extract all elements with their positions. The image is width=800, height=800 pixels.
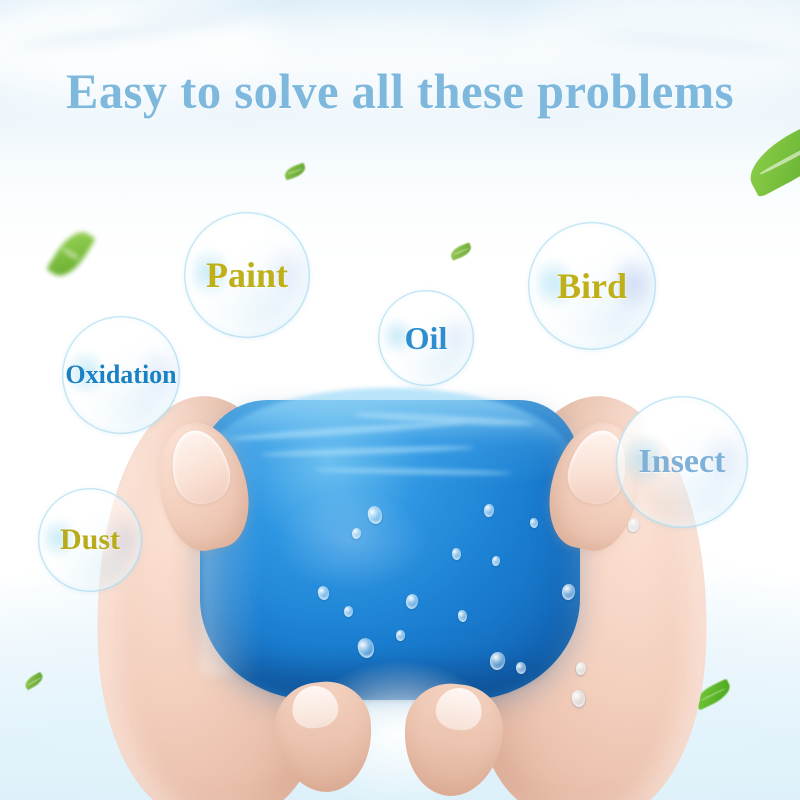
bubble-tint-right — [443, 307, 472, 365]
bubble-gloss — [554, 239, 592, 265]
bubble-label: Insect — [639, 443, 726, 481]
bubble-bird[interactable]: Bird — [528, 222, 656, 350]
gel-top-ridge — [208, 388, 573, 490]
bubble-insect[interactable]: Insect — [616, 396, 748, 528]
bubble-label: Paint — [206, 254, 288, 296]
bubble-gloss — [59, 502, 90, 523]
gel-center-shine — [276, 490, 428, 592]
blue-cleaning-gel-blob — [200, 400, 580, 700]
page-title: Easy to solve all these problems — [12, 62, 788, 120]
product-image-canvas: Easy to solve all these problems PaintBi… — [0, 0, 800, 800]
leaf-vein — [453, 248, 469, 255]
leaf-vein — [62, 247, 81, 261]
bubble-label: Oxidation — [65, 360, 176, 390]
bubble-oil[interactable]: Oil — [378, 290, 474, 386]
bubble-dust[interactable]: Dust — [38, 488, 142, 592]
bubble-label: Oil — [405, 320, 448, 357]
bubble-gloss — [209, 228, 247, 253]
leaf-vein — [287, 168, 303, 175]
bubble-gloss — [86, 331, 121, 355]
bubble-gloss — [642, 413, 682, 439]
bubble-label: Bird — [557, 265, 627, 307]
bubble-paint[interactable]: Paint — [184, 212, 310, 338]
bubble-label: Dust — [60, 523, 120, 557]
bubble-oxidation[interactable]: Oxidation — [62, 316, 180, 434]
